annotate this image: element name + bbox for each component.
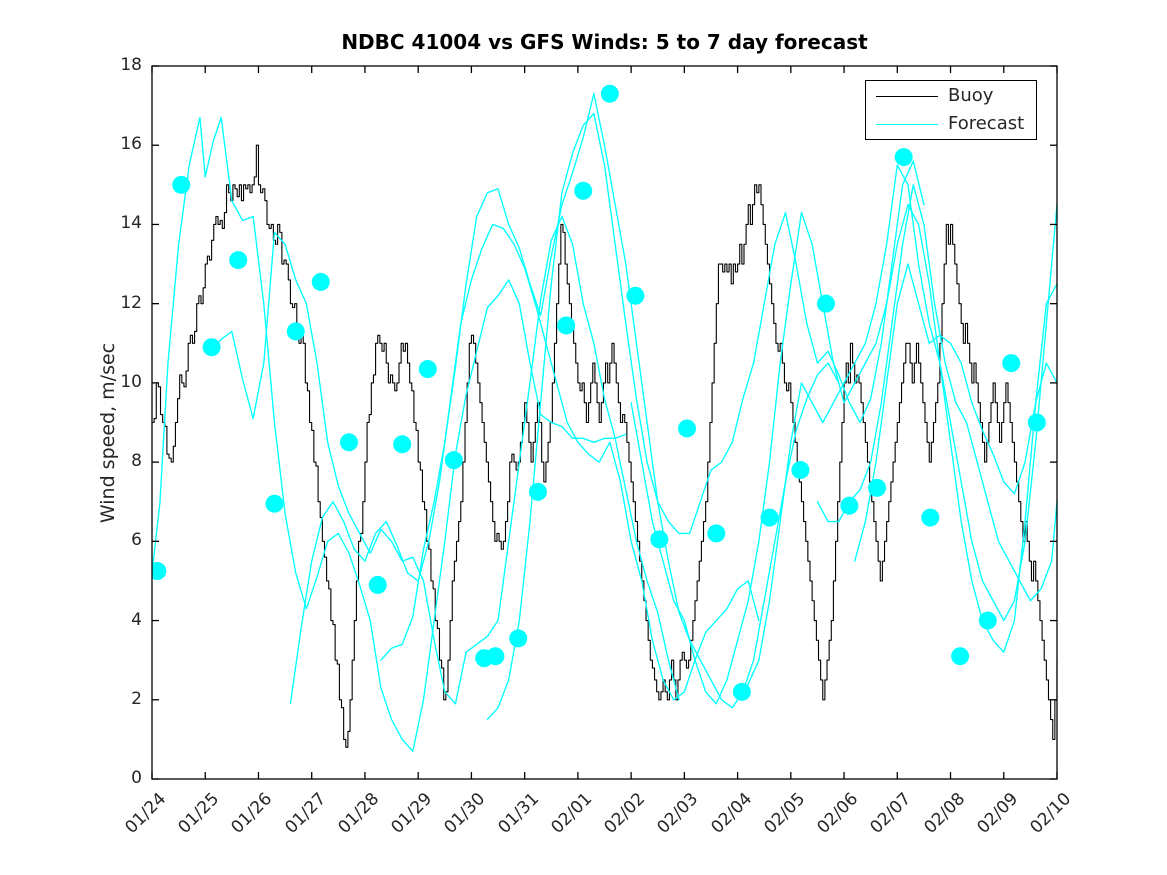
forecast-start-marker[interactable]: [265, 495, 283, 513]
legend-swatch-forecast: [876, 124, 938, 125]
forecast-start-marker[interactable]: [393, 435, 411, 453]
forecast-start-marker[interactable]: [148, 562, 166, 580]
forecast-start-marker[interactable]: [707, 524, 725, 542]
forecast-series-line: [211, 217, 679, 704]
forecast-start-marker[interactable]: [626, 287, 644, 305]
forecast-start-marker[interactable]: [678, 419, 696, 437]
forecast-start-marker[interactable]: [1028, 414, 1046, 432]
forecast-start-marker[interactable]: [921, 509, 939, 527]
y-tick-label: 2: [98, 689, 142, 709]
y-tick-label: 8: [98, 451, 142, 471]
forecast-start-marker[interactable]: [868, 479, 886, 497]
forecast-start-marker[interactable]: [486, 647, 504, 665]
forecast-start-marker[interactable]: [369, 576, 387, 594]
chart-figure: NDBC 41004 vs GFS Winds: 5 to 7 day fore…: [0, 0, 1167, 875]
forecast-start-marker[interactable]: [229, 251, 247, 269]
forecast-start-marker[interactable]: [951, 647, 969, 665]
axes-frame: [152, 66, 1057, 779]
y-tick-label: 4: [98, 610, 142, 630]
series-layer: [152, 94, 1057, 752]
y-tick-label: 6: [98, 530, 142, 550]
y-tick-label: 12: [98, 293, 142, 313]
forecast-start-marker[interactable]: [312, 273, 330, 291]
forecast-start-marker[interactable]: [1002, 354, 1020, 372]
legend-item-buoy[interactable]: Buoy: [866, 83, 1036, 111]
forecast-start-marker[interactable]: [895, 148, 913, 166]
forecast-start-marker[interactable]: [419, 360, 437, 378]
forecast-start-marker[interactable]: [601, 85, 619, 103]
axes-frame-rect: [152, 66, 1057, 779]
legend-swatch-buoy: [876, 96, 938, 97]
forecast-series-line: [381, 94, 839, 708]
y-tick-label: 0: [98, 768, 142, 788]
legend-item-forecast[interactable]: Forecast: [866, 111, 1036, 139]
forecast-start-marker[interactable]: [445, 451, 463, 469]
forecast-series-line: [290, 224, 758, 703]
forecast-start-marker[interactable]: [840, 497, 858, 515]
forecast-start-marker[interactable]: [574, 182, 592, 200]
y-tick-label: 10: [98, 372, 142, 392]
legend-label-forecast: Forecast: [948, 113, 1024, 134]
y-tick-label: 14: [98, 213, 142, 233]
y-tick-label: 18: [98, 55, 142, 75]
y-tick-label: 16: [98, 134, 142, 154]
legend[interactable]: Buoy Forecast: [865, 80, 1037, 140]
forecast-start-marker[interactable]: [791, 461, 809, 479]
forecast-start-marker[interactable]: [557, 316, 575, 334]
forecast-start-marker[interactable]: [817, 295, 835, 313]
forecast-start-marker[interactable]: [172, 176, 190, 194]
forecast-start-marker[interactable]: [287, 322, 305, 340]
forecast-start-marker[interactable]: [529, 483, 547, 501]
forecast-start-marker[interactable]: [340, 433, 358, 451]
forecast-series-line: [152, 117, 626, 751]
forecast-start-marker[interactable]: [733, 683, 751, 701]
forecast-start-marker[interactable]: [650, 530, 668, 548]
forecast-start-marker[interactable]: [509, 629, 527, 647]
legend-label-buoy: Buoy: [948, 85, 993, 106]
forecast-start-marker[interactable]: [979, 612, 997, 630]
forecast-start-marker[interactable]: [761, 509, 779, 527]
forecast-start-marker[interactable]: [203, 338, 221, 356]
